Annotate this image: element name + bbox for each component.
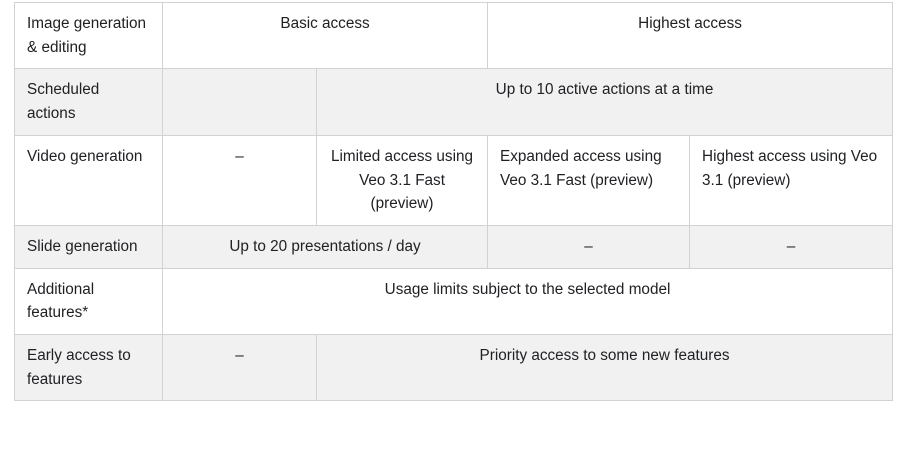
table-cell [163,69,317,135]
cell-not-available: – [488,225,690,268]
comparison-table-page: Image generation & editingBasic accessHi… [0,0,906,460]
row-header-image-generation-editing[interactable]: Image generation & editing [15,3,163,69]
row-header-video-generation[interactable]: Video generation [15,135,163,225]
cell-not-available: – [690,225,893,268]
table-cell: Basic access [163,3,488,69]
table-row: Video generation–Limited access using Ve… [15,135,893,225]
cell-not-available: – [163,135,317,225]
row-header-slide-generation[interactable]: Slide generation [15,225,163,268]
row-header-early-access-to-features: Early access to features [15,335,163,401]
table-row: Additional features*Usage limits subject… [15,268,893,334]
table-cell: Highest access [488,3,893,69]
table-cell: Limited access using Veo 3.1 Fast (previ… [317,135,488,225]
table-cell: Up to 20 presentations / day [163,225,488,268]
table-row: Scheduled actionsUp to 10 active actions… [15,69,893,135]
row-header-scheduled-actions[interactable]: Scheduled actions [15,69,163,135]
table-cell: Expanded access using Veo 3.1 Fast (prev… [488,135,690,225]
plan-comparison-table: Image generation & editingBasic accessHi… [14,2,893,401]
row-header-additional-features[interactable]: Additional features* [15,268,163,334]
table-row: Early access to features–Priority access… [15,335,893,401]
table-cell: Usage limits subject to the selected mod… [163,268,893,334]
table-row: Image generation & editingBasic accessHi… [15,3,893,69]
table-cell: Up to 10 active actions at a time [317,69,893,135]
table-body: Image generation & editingBasic accessHi… [15,3,893,401]
table-row: Slide generationUp to 20 presentations /… [15,225,893,268]
table-cell: Priority access to some new features [317,335,893,401]
table-cell: Highest access using Veo 3.1 (preview) [690,135,893,225]
cell-not-available: – [163,335,317,401]
